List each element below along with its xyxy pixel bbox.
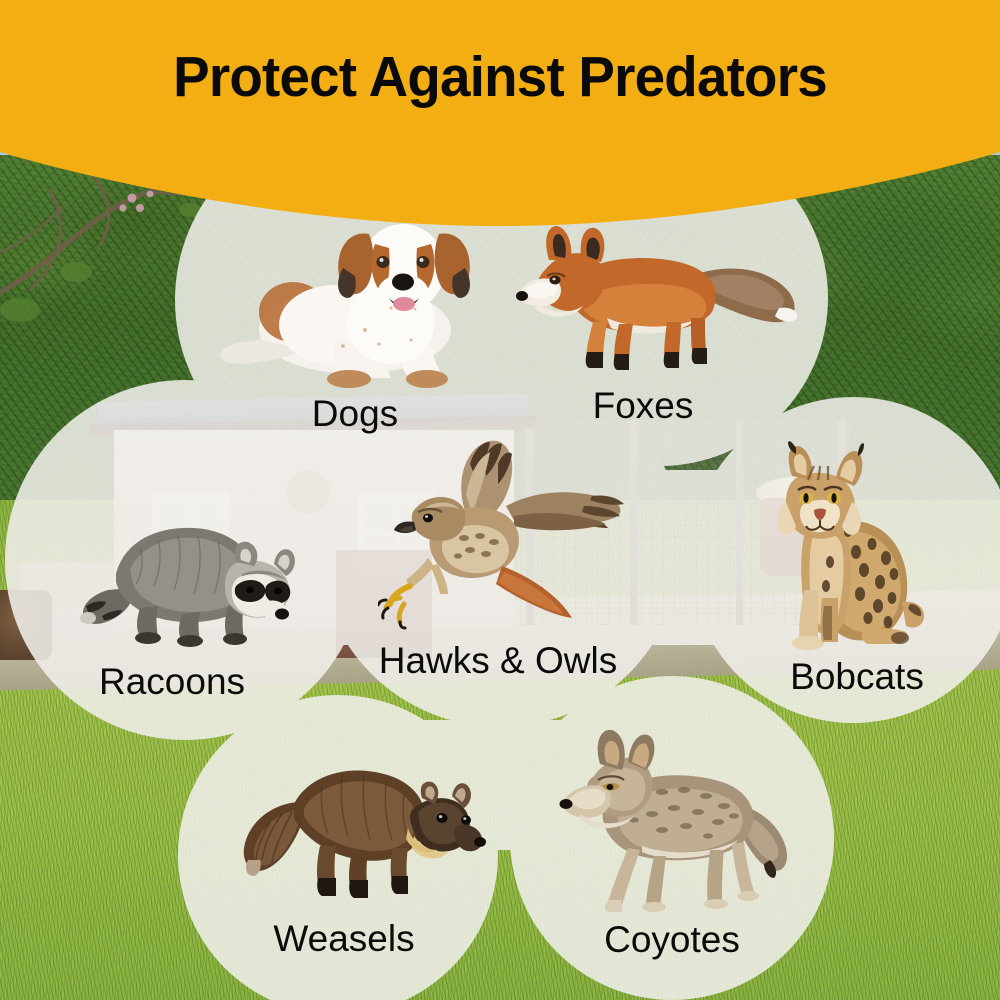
weasel-icon — [242, 752, 492, 904]
label-racoons: Racoons — [62, 661, 282, 703]
hawk-icon — [378, 438, 628, 638]
label-bobcats: Bobcats — [757, 656, 957, 698]
label-weasels: Weasels — [244, 918, 444, 960]
label-foxes: Foxes — [543, 385, 743, 427]
header-banner-shape — [0, 0, 1000, 226]
raccoon-icon — [78, 478, 308, 648]
label-dogs: Dogs — [255, 393, 455, 435]
bobcat-icon — [760, 440, 950, 658]
header-banner — [0, 0, 1000, 240]
page-title: Protect Against Predators — [20, 44, 980, 110]
coyote-icon — [558, 722, 808, 912]
label-hawks-owls: Hawks & Owls — [348, 640, 648, 682]
predator-infographic-poster: Protect Against Predators Dogs Foxes Rac… — [0, 0, 1000, 1000]
label-coyotes: Coyotes — [572, 919, 772, 961]
fox-icon — [515, 218, 805, 370]
